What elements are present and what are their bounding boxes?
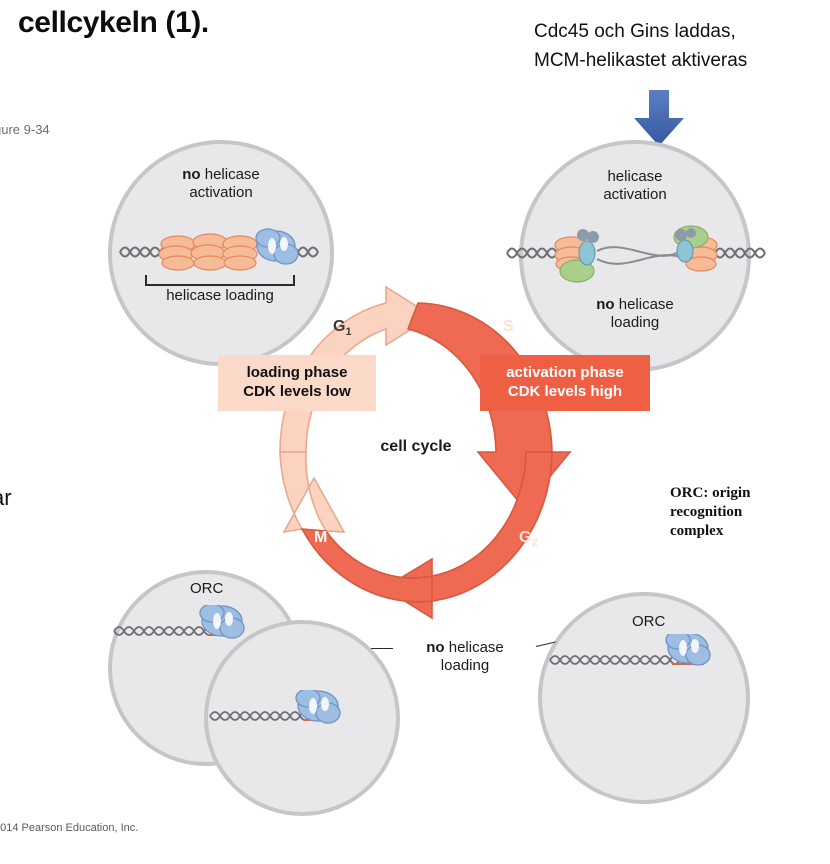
copyright-notice: 2014 Pearson Education, Inc. [0,822,138,834]
cell-s-bottom-rest: helicase [615,296,674,313]
phase-s-letter: S [503,318,514,335]
loading-phase-line2: CDK levels low [228,383,366,402]
cell-cycle-center-label: cell cycle [1,438,830,456]
orc-legend-line-1: ORC: origin [670,484,750,503]
activation-phase-line1: activation phase [490,364,640,383]
annotation-text: Cdc45 och Gins laddas, MCM-helikastet ak… [534,18,747,75]
phase-g1-sub: 1 [345,326,351,338]
cell-g1-caption-bold: no [182,166,200,183]
annotation-line-2: MCM-helikastet aktiveras [534,47,747,76]
mid-caption-bold: no [426,639,444,656]
loading-phase-line1: loading phase [228,364,366,383]
cell-s-caption-line1: helicase [519,168,751,186]
phase-g2-letter: G [519,529,531,546]
leader-line-left [371,648,393,649]
phase-label-g1: G1 [333,318,352,338]
phase-g2-sub: 2 [531,537,537,549]
activation-phase-box: activation phase CDK levels high [480,355,650,411]
phase-label-s: S [503,318,514,336]
loading-phase-box: loading phase CDK levels low [218,355,376,411]
phase-g1-letter: G [333,318,345,335]
orc-label-m-1: ORC [190,580,223,597]
phase-label-g2: G2 [519,529,538,549]
left-cropped-text-1: ar [0,485,12,511]
cell-g1-caption-line2: activation [108,184,334,202]
cell-g2-dna-complex [548,634,748,683]
cell-m-dna-2 [208,690,388,739]
activation-phase-line2: CDK levels high [490,383,640,402]
figure-label: gure 9-34 [0,122,50,137]
cell-g1-caption: no helicase activation [108,166,334,203]
cell-s-bottom-bold: no [596,296,614,313]
mid-caption-rest: helicase [445,639,504,656]
mid-caption-line2: loading [392,657,538,675]
annotation-line-1: Cdc45 och Gins laddas, [534,18,747,47]
cell-g1-caption-rest: helicase [201,166,260,183]
orc-label-g2: ORC [632,613,665,630]
orc-legend-line-3: complex [670,522,750,541]
orc-legend: ORC: origin recognition complex [670,484,750,542]
cell-s-caption-line2: activation [519,186,751,204]
no-helicase-loading-caption: no helicase loading [392,639,538,676]
phase-label-m: M [314,529,327,547]
page-title: cellcykeln (1). [18,6,209,40]
orc-legend-line-2: recognition [670,503,750,522]
cell-s-caption-top: helicase activation [519,168,751,205]
phase-m-letter: M [314,529,327,546]
